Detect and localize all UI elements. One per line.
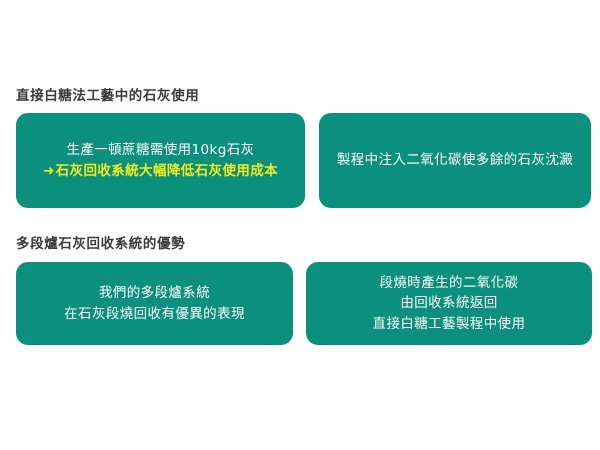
card-line-co2-return-3: 直接白糖工藝製程中使用 <box>373 314 526 335</box>
section-heading-advantage: 多段爐石灰回收系統的優勢 <box>16 238 185 252</box>
card-line-lime-usage-2-text: 石灰回收系統大幅降低石灰使用成本 <box>56 163 278 179</box>
section-heading-process: 直接白糖法工藝中的石灰使用 <box>16 90 199 104</box>
card-line-lime-usage-1: 生產一頓蔗糖需使用10kg石灰 <box>66 140 254 161</box>
card-line-co2-return-1: 段燒時產生的二氧化碳 <box>380 273 519 294</box>
slide-canvas: 直接白糖法工藝中的石灰使用 生產一頓蔗糖需使用10kg石灰 ➜石灰回收系統大幅降… <box>0 0 600 450</box>
card-line-mhf-performance-1: 我們的多段爐系統 <box>99 283 210 304</box>
card-line-co2-inject-1: 製程中注入二氧化碳使多餘的石灰沈澱 <box>337 150 573 171</box>
card-mhf-performance[interactable]: 我們的多段爐系統 在石灰段燒回收有優異的表現 <box>16 262 293 345</box>
card-line-co2-return-2: 由回收系統返回 <box>400 293 497 314</box>
card-co2-return[interactable]: 段燒時產生的二氧化碳 由回收系統返回 直接白糖工藝製程中使用 <box>306 262 592 345</box>
card-lime-usage[interactable]: 生產一頓蔗糖需使用10kg石灰 ➜石灰回收系統大幅降低石灰使用成本 <box>16 113 305 208</box>
arrow-right-icon: ➜ <box>43 163 56 179</box>
card-co2-inject[interactable]: 製程中注入二氧化碳使多餘的石灰沈澱 <box>319 113 591 208</box>
card-line-mhf-performance-2: 在石灰段燒回收有優異的表現 <box>64 304 245 325</box>
card-line-lime-usage-2: ➜石灰回收系統大幅降低石灰使用成本 <box>43 161 278 182</box>
